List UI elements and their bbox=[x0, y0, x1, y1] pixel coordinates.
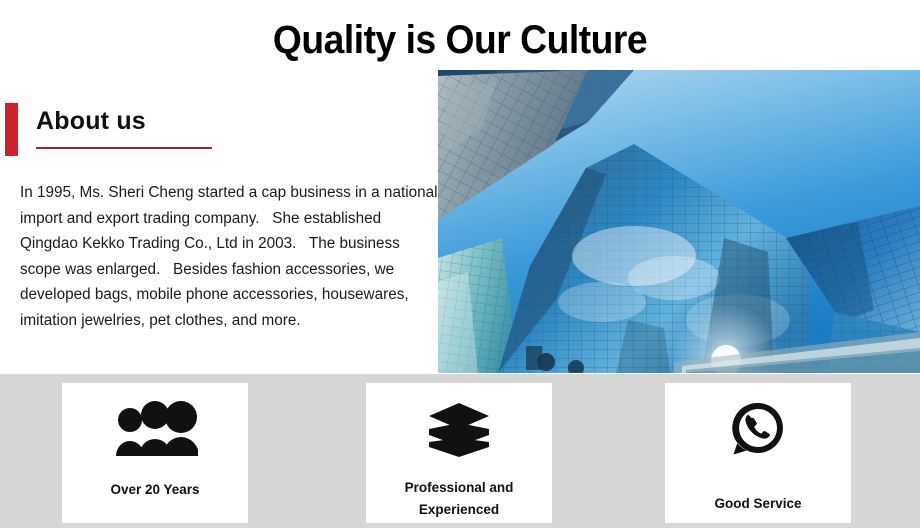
feature-card-over-20-years[interactable]: Over 20 Years bbox=[62, 383, 248, 523]
feature-card-good-service[interactable]: Good Service bbox=[665, 383, 851, 523]
skyscraper-photo-artwork bbox=[438, 70, 920, 373]
section-title: About us bbox=[36, 107, 146, 136]
feature-card-label: Over 20 Years bbox=[75, 479, 235, 501]
layers-stack-icon bbox=[427, 393, 491, 465]
feature-card-professional-experienced[interactable]: Professional and Experienced bbox=[366, 383, 552, 523]
section-accent-bar bbox=[5, 103, 18, 156]
feature-card-label: Good Service bbox=[678, 493, 838, 515]
about-body-text: In 1995, Ms. Sheri Cheng started a cap b… bbox=[20, 180, 438, 333]
section-underline bbox=[36, 147, 212, 149]
page-title: Quality is Our Culture bbox=[32, 16, 888, 64]
about-us-page: Quality is Our Culture About us In 1995,… bbox=[0, 0, 920, 528]
whatsapp-phone-bubble-icon bbox=[729, 393, 787, 465]
people-group-icon bbox=[112, 393, 198, 465]
feature-card-label: Professional and Experienced bbox=[379, 477, 539, 521]
skyscraper-photo bbox=[438, 70, 920, 373]
